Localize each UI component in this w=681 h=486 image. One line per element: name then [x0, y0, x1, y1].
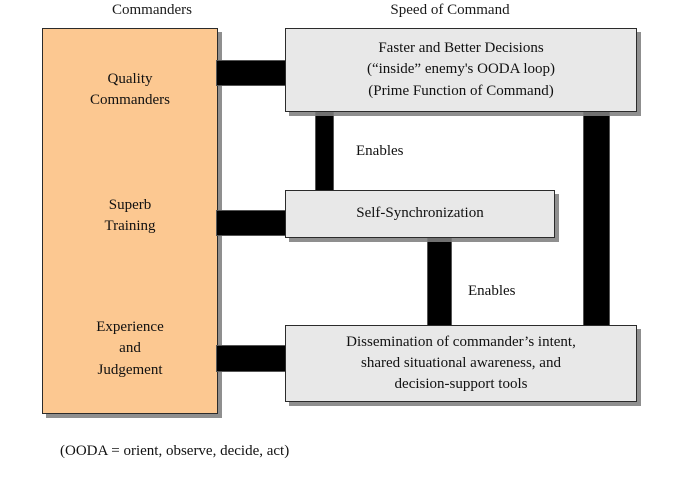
pillar-label-quality-line2: Commanders [43, 90, 217, 111]
node-decisions-text: Faster and Better Decisions (“inside” en… [359, 38, 563, 102]
node-self-sync-line1: Self-Synchronization [356, 203, 483, 224]
node-dissemination-line3: decision-support tools [346, 374, 576, 395]
node-decisions-line3: (Prime Function of Command) [367, 81, 555, 102]
pillar-label-superb-line1: Superb [43, 195, 217, 216]
node-dissemination: Dissemination of commander’s intent, sha… [285, 325, 637, 402]
pillar-label-superb-line2: Training [43, 216, 217, 237]
node-faster-and-better-decisions: Faster and Better Decisions (“inside” en… [285, 28, 637, 112]
pillar-label-quality-commanders: Quality Commanders [43, 69, 217, 112]
column-heading-commanders: Commanders [62, 2, 242, 19]
column-heading-speed-of-command: Speed of Command [310, 2, 590, 19]
pillar-label-experience-line2: and [43, 338, 217, 359]
connector-decisions-to-dissemination [583, 110, 610, 327]
footnote-ooda-definition: (OODA = orient, observe, decide, act) [60, 443, 289, 460]
pillar-label-experience-line1: Experience [43, 317, 217, 338]
node-dissemination-text: Dissemination of commander’s intent, sha… [338, 332, 584, 396]
node-self-synchronization: Self-Synchronization [285, 190, 555, 238]
pillar-label-quality-line1: Quality [43, 69, 217, 90]
connector-experience-to-dissemination [216, 345, 287, 372]
commanders-pillar-box: Quality Commanders Superb Training Exper… [42, 28, 218, 414]
connector-training-to-self-sync [216, 210, 287, 236]
diagram-canvas: Commanders Speed of Command Quality Comm… [0, 0, 681, 486]
connector-quality-to-decisions [216, 60, 287, 86]
node-dissemination-line1: Dissemination of commander’s intent, [346, 332, 576, 353]
edge-label-enables-lower: Enables [468, 283, 515, 300]
node-decisions-line2: (“inside” enemy's OODA loop) [367, 59, 555, 80]
pillar-label-experience-judgement: Experience and Judgement [43, 317, 217, 381]
connector-decisions-to-self-sync [315, 110, 334, 192]
pillar-label-superb-training: Superb Training [43, 195, 217, 238]
edge-label-enables-upper: Enables [356, 143, 403, 160]
node-dissemination-line2: shared situational awareness, and [346, 353, 576, 374]
pillar-label-experience-line3: Judgement [43, 360, 217, 381]
node-self-sync-text: Self-Synchronization [348, 203, 491, 224]
connector-self-sync-to-dissemination [427, 236, 452, 327]
node-decisions-line1: Faster and Better Decisions [367, 38, 555, 59]
